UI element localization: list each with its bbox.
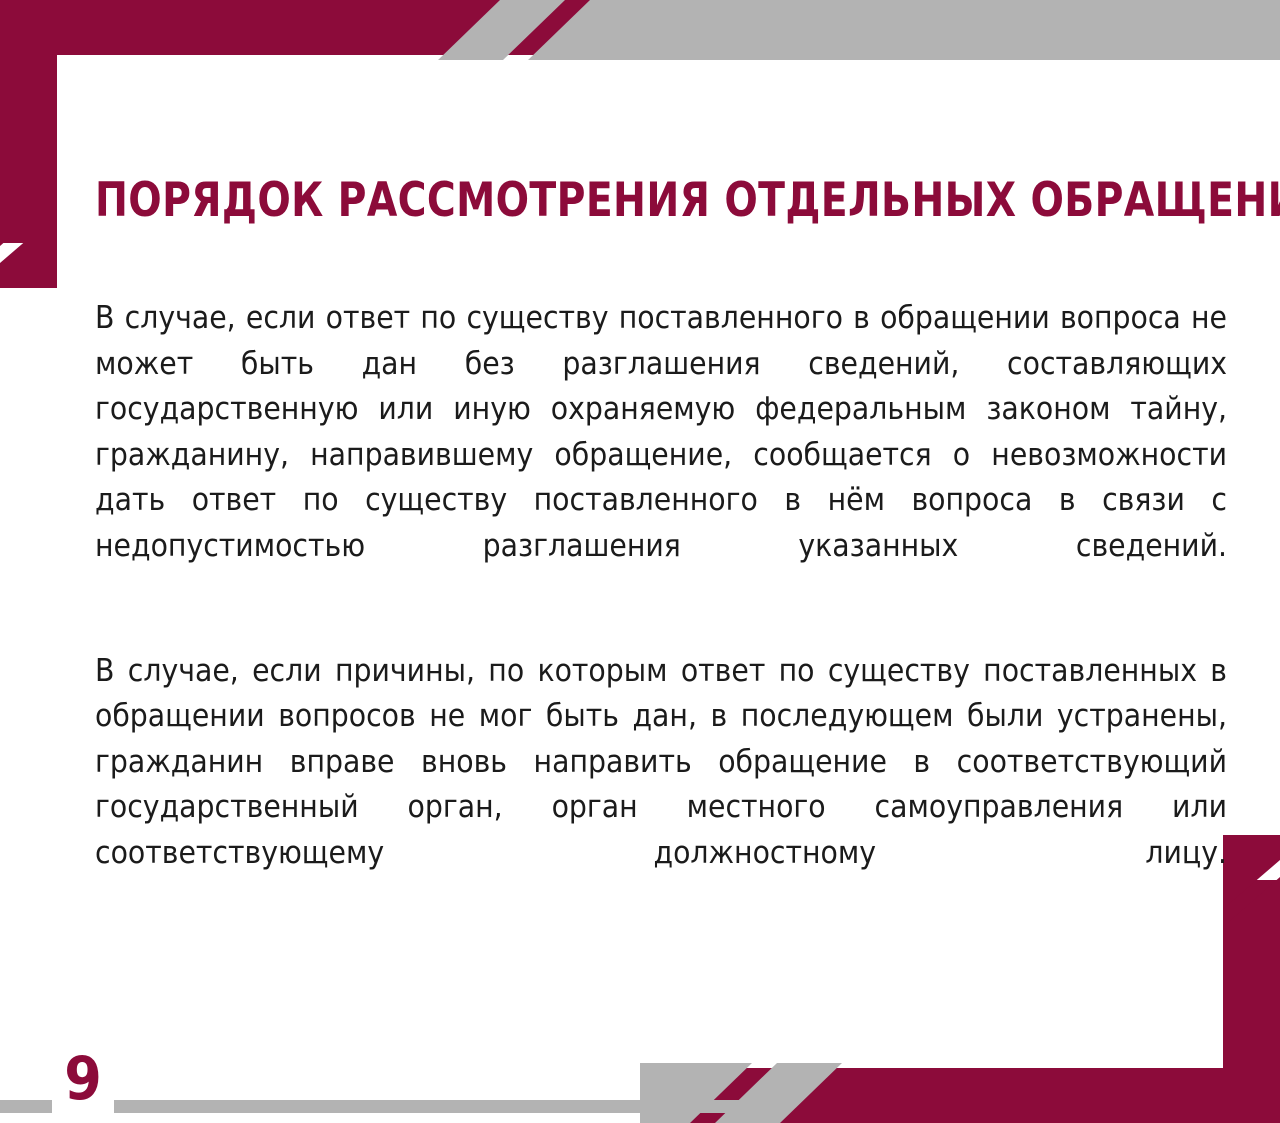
top-gray-stripe-short <box>438 0 565 60</box>
top-left-maroon-leg-lower <box>0 214 57 288</box>
bottom-gray-stripe-short <box>715 1063 842 1123</box>
paragraph-1: В случае, если ответ по существу поставл… <box>95 296 1227 615</box>
paragraph-2: В случае, если причины, по которым ответ… <box>95 649 1227 922</box>
slide-root: ПОРЯДОК РАССМОТРЕНИЯ ОТДЕЛЬНЫХ ОБРАЩЕНИЙ… <box>0 0 1280 1123</box>
top-left-maroon-leg <box>0 196 57 246</box>
footer-gray-bar-right <box>640 1100 762 1113</box>
bottom-right-maroon-leg-upper <box>1223 835 1280 909</box>
page-number: 9 <box>57 1049 109 1109</box>
bottom-gray-stripe-long <box>640 1063 752 1123</box>
bottom-right-maroon-leg <box>1223 877 1280 927</box>
page-title: ПОРЯДОК РАССМОТРЕНИЯ ОТДЕЛЬНЫХ ОБРАЩЕНИЙ <box>95 177 1090 224</box>
top-gray-stripe-long <box>528 0 1280 60</box>
bottom-maroon-diagonal-tail <box>640 1068 795 1123</box>
body-content: В случае, если ответ по существу поставл… <box>95 296 1227 922</box>
top-maroon-diagonal-tail <box>485 0 640 55</box>
